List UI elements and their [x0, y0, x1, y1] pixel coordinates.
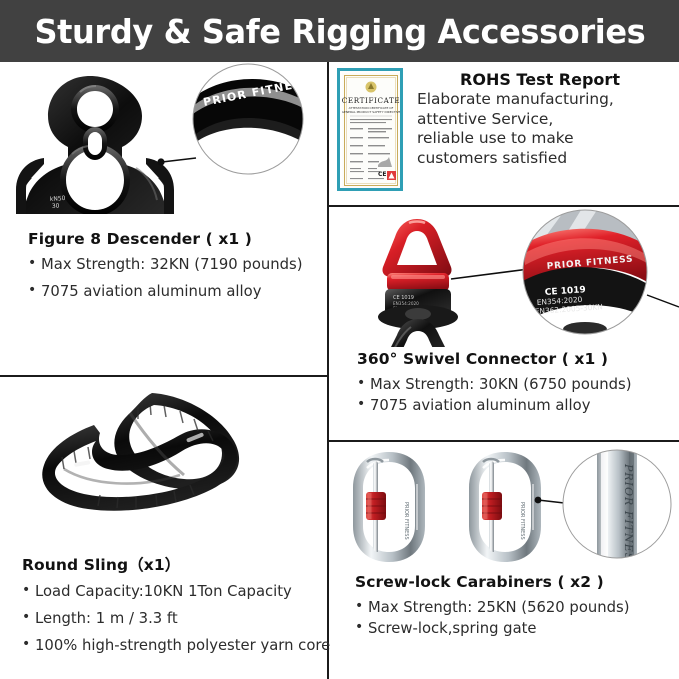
svg-text:GENERAL PRODUCT SAFETY DIRECTI: GENERAL PRODUCT SAFETY DIRECTIVE: [342, 110, 400, 114]
rohs-line: attentive Service,: [417, 110, 663, 130]
list-item: Load Capacity:10KN 1Ton Capacity: [22, 582, 332, 601]
panel-figure-8-descender: kN50 30 PRIOR FITNESS PRIOR FITNESS: [0, 62, 327, 375]
carabiner-image-stage: PRIOR FITNESS PRIOR FI: [329, 442, 679, 570]
carabiner-callout-zoom: PRIOR FITNESS: [559, 446, 675, 570]
certificate-image: CERTIFICATE ATTESTATION CERTIFICATE OF G…: [342, 73, 400, 188]
list-item: Max Strength: 30KN (6750 pounds): [357, 375, 675, 394]
sling-bullets: Load Capacity:10KN 1Ton Capacity Length:…: [22, 582, 332, 656]
carabiner-title: Screw-lock Carabiners ( x2 ): [355, 573, 673, 591]
page-title: Sturdy & Safe Rigging Accessories: [34, 15, 645, 48]
swivel-bullets: Max Strength: 30KN (6750 pounds) 7075 av…: [357, 375, 675, 415]
rohs-content: CERTIFICATE ATTESTATION CERTIFICATE OF G…: [337, 68, 663, 191]
sling-text-block: Round Sling（x1） Load Capacity:10KN 1Ton …: [22, 553, 332, 664]
svg-text:PRIOR FITNESS: PRIOR FITNESS: [519, 502, 525, 540]
list-item: Max Strength: 32KN (7190 pounds): [28, 255, 323, 274]
panel-rohs-test-report: CERTIFICATE ATTESTATION CERTIFICATE OF G…: [329, 62, 679, 205]
swivel-text-block: 360° Swivel Connector ( x1 ) Max Strengt…: [357, 350, 675, 417]
carabiner-text-block: Screw-lock Carabiners ( x2 ) Max Strengt…: [355, 573, 673, 640]
header-bar: Sturdy & Safe Rigging Accessories: [0, 0, 679, 62]
svg-text:CE: CE: [378, 171, 387, 178]
round-sling-photo: [0, 377, 327, 532]
list-item: 7075 aviation aluminum alloy: [357, 396, 675, 415]
list-item: Screw-lock,spring gate: [355, 619, 673, 638]
panel-round-sling: Round Sling（x1） Load Capacity:10KN 1Ton …: [0, 377, 327, 679]
sling-image-stage: [0, 377, 327, 532]
panel-swivel-connector: CE 1019 EN354:2020 EN362:2005-30KN: [329, 207, 679, 440]
rohs-line: Elaborate manufacturing,: [417, 90, 663, 110]
rohs-line: reliable use to make: [417, 129, 663, 149]
screw-lock-carabiner-photo: PRIOR FITNESS PRIOR FI: [329, 442, 679, 570]
svg-text:PRIOR FITNESS: PRIOR FITNESS: [622, 463, 635, 570]
rohs-line: customers satisfied: [417, 149, 663, 169]
panel-screw-lock-carabiners: PRIOR FITNESS PRIOR FI: [329, 442, 679, 679]
sling-title: Round Sling（x1）: [22, 553, 332, 575]
carabiner-bullets: Max Strength: 25KN (5620 pounds) Screw-l…: [355, 598, 673, 638]
figure-8-text-block: Figure 8 Descender ( x1 ) Max Strength: …: [28, 230, 323, 309]
swivel-image-stage: CE 1019 EN354:2020 EN362:2005-30KN: [329, 207, 679, 347]
list-item: 100% high-strength polyester yarn core: [22, 636, 332, 655]
infographic-page: Sturdy & Safe Rigging Accessories: [0, 0, 679, 679]
rohs-heading: ROHS Test Report: [417, 70, 663, 89]
list-item: Length: 1 m / 3.3 ft: [22, 609, 332, 628]
figure-8-image-stage: kN50 30 PRIOR FITNESS PRIOR FITNESS: [0, 62, 327, 214]
figure-8-bullets: Max Strength: 32KN (7190 pounds) 7075 av…: [28, 255, 323, 301]
figure-8-callout-zoom: PRIOR FITNESS kN50: [193, 64, 312, 174]
svg-text:PRIOR FITNESS: PRIOR FITNESS: [403, 502, 409, 540]
certificate-thumbnail: CERTIFICATE ATTESTATION CERTIFICATE OF G…: [337, 68, 403, 191]
rohs-text-block: ROHS Test Report Elaborate manufacturing…: [417, 68, 663, 191]
swivel-connector-photo: CE 1019 EN354:2020 EN362:2005-30KN: [329, 207, 679, 347]
svg-text:CERTIFICATE: CERTIFICATE: [342, 96, 400, 105]
list-item: Max Strength: 25KN (5620 pounds): [355, 598, 673, 617]
swivel-title: 360° Swivel Connector ( x1 ): [357, 350, 675, 368]
svg-text:30: 30: [52, 202, 60, 210]
panel-grid: kN50 30 PRIOR FITNESS PRIOR FITNESS: [0, 62, 679, 679]
figure-8-descender-photo: kN50 30 PRIOR FITNESS PRIOR FITNESS: [0, 62, 327, 214]
figure-8-title: Figure 8 Descender ( x1 ): [28, 230, 323, 248]
list-item: 7075 aviation aluminum alloy: [28, 282, 323, 301]
